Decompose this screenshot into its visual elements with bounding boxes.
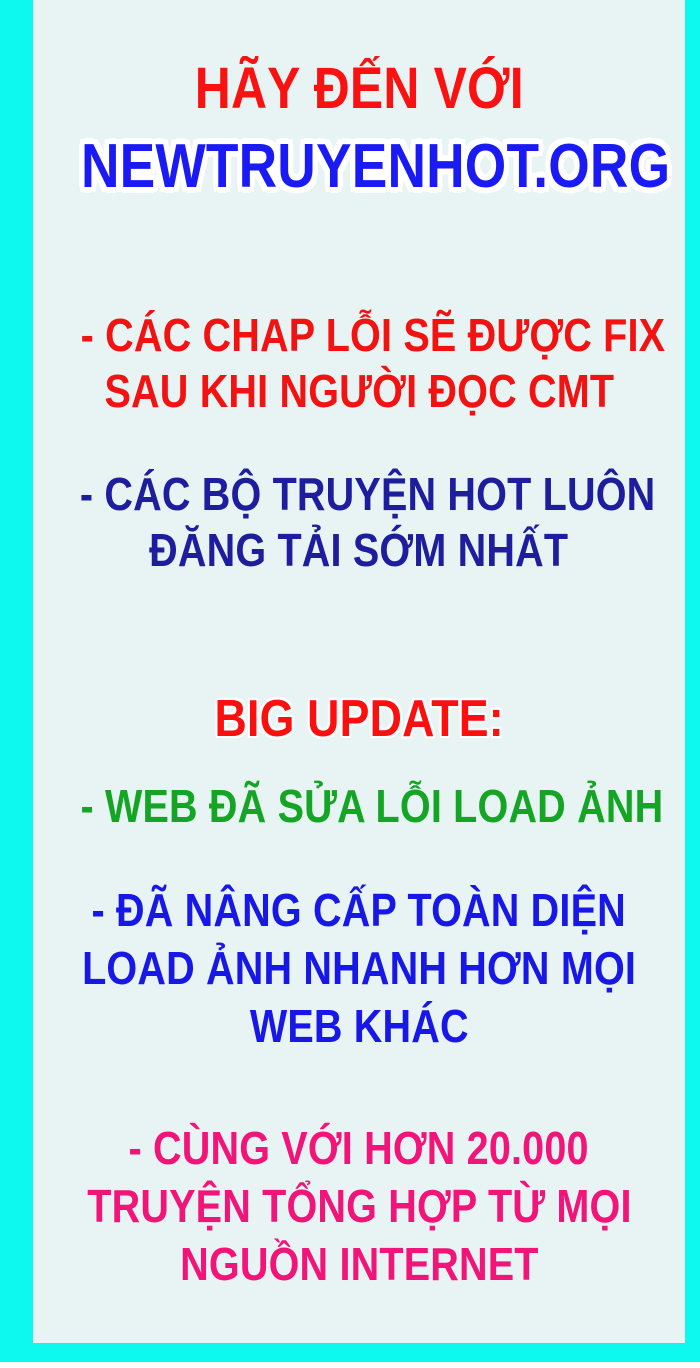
notice-line: - CÁC BỘ TRUYỆN HOT LUÔN xyxy=(33,470,685,519)
update-item-line: - CÙNG VỚI HƠN 20.000 xyxy=(33,1124,685,1173)
headline-invite: HÃY ĐẾN VỚI xyxy=(33,58,685,119)
update-item-line: - WEB ĐÃ SỬA LỖI LOAD ẢNH xyxy=(33,782,685,831)
notice-fix-notice: - CÁC CHAP LỖI SẼ ĐƯỢC FIX SAU KHI NGƯỜI… xyxy=(33,311,685,416)
update-item-line: WEB KHÁC xyxy=(33,1002,685,1051)
promo-banner-page: HÃY ĐẾN VỚI NEWTRUYENHOT.ORG - CÁC CHAP … xyxy=(0,0,700,1368)
update-item-line: TRUYỆN TỔNG HỢP TỪ MỌI xyxy=(33,1182,685,1231)
notice-line: ĐĂNG TẢI SỚM NHẤT xyxy=(33,526,685,575)
update-item-image-load-fixed: - WEB ĐÃ SỬA LỖI LOAD ẢNH xyxy=(33,782,685,831)
update-section-title: BIG UPDATE: xyxy=(33,692,685,747)
headline-site-name[interactable]: NEWTRUYENHOT.ORG xyxy=(33,134,685,200)
update-item-line: NGUỒN INTERNET xyxy=(33,1240,685,1289)
headline-invite-line: HÃY ĐẾN VỚI xyxy=(33,58,685,119)
bottom-white-strip xyxy=(0,1362,700,1368)
notice-hot-series-notice: - CÁC BỘ TRUYỆN HOT LUÔN ĐĂNG TẢI SỚM NH… xyxy=(33,470,685,575)
update-item-line: LOAD ẢNH NHANH HƠN MỌI xyxy=(33,944,685,993)
update-item-full-upgrade: - ĐÃ NÂNG CẤP TOÀN DIỆN LOAD ẢNH NHANH H… xyxy=(33,886,685,1050)
update-title-line: BIG UPDATE: xyxy=(33,692,685,747)
notice-line: - CÁC CHAP LỖI SẼ ĐƯỢC FIX xyxy=(33,311,685,360)
site-name-line[interactable]: NEWTRUYENHOT.ORG xyxy=(33,134,685,200)
notice-line: SAU KHI NGƯỜI ĐỌC CMT xyxy=(33,367,685,416)
update-item-library-size: - CÙNG VỚI HƠN 20.000 TRUYỆN TỔNG HỢP TỪ… xyxy=(33,1124,685,1288)
update-item-line: - ĐÃ NÂNG CẤP TOÀN DIỆN xyxy=(33,886,685,935)
banner-content: HÃY ĐẾN VỚI NEWTRUYENHOT.ORG - CÁC CHAP … xyxy=(33,0,685,1343)
